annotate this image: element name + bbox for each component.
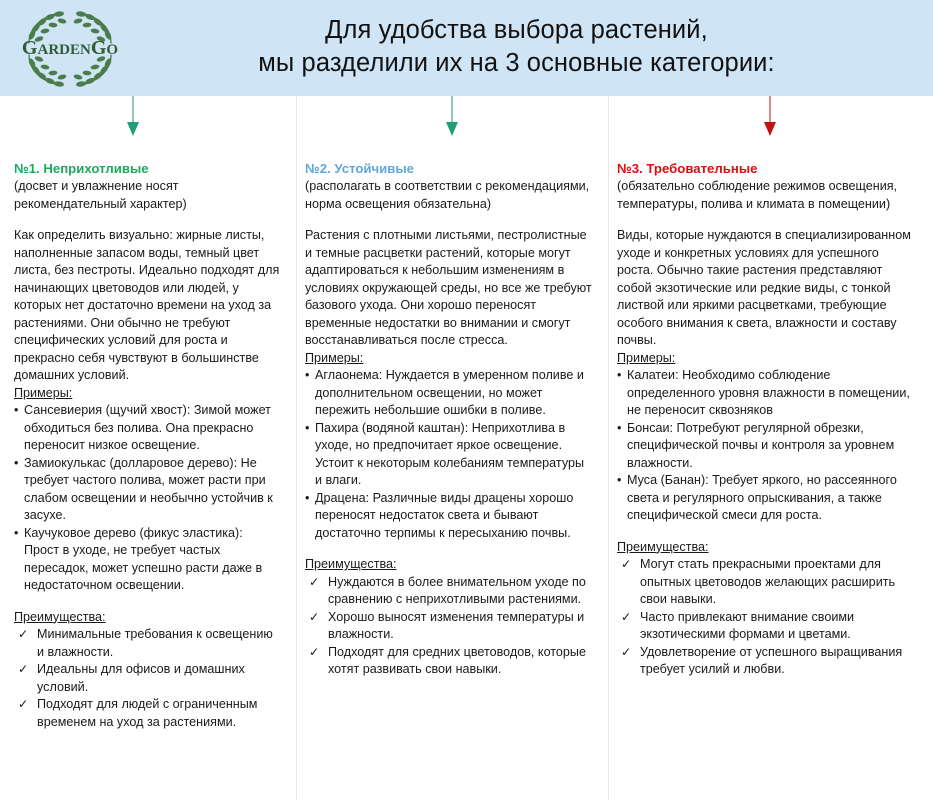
arrow-down-icon-3	[761, 96, 779, 138]
page-title: Для удобства выбора растений, мы раздели…	[140, 14, 933, 82]
arrow-down-icon-2	[443, 96, 461, 138]
advantages-list-2: Нуждаются в более внимательном уходе по …	[305, 574, 592, 679]
laurel-wreath-icon: GARDENGO	[5, 5, 135, 91]
list-item: Драцена: Различные виды драцены хорошо п…	[305, 490, 592, 543]
header-band: GARDENGO Для удобства выбора растений, м…	[0, 0, 933, 96]
category-title-3: №3. Требовательные	[617, 160, 917, 177]
list-item: Бонсаи: Потребуют регулярной обрезки, сп…	[617, 420, 917, 473]
category-title-2: №2. Устойчивые	[305, 160, 592, 177]
category-columns: №1. Неприхотливые (досвет и увлажнение н…	[0, 160, 933, 731]
advantages-label-2: Преимущества:	[305, 556, 592, 574]
list-item: Часто привлекают внимание своими экзотич…	[617, 609, 917, 644]
advantages-list-3: Могут стать прекрасными проектами для оп…	[617, 556, 917, 679]
list-item: Удовлетворение от успешного выращивания …	[617, 644, 917, 679]
brand-name: GARDENGO	[22, 37, 118, 59]
category-body-3: Виды, которые нуждаются в специализирова…	[617, 227, 917, 350]
advantages-label-1: Преимущества:	[14, 609, 280, 627]
category-subtitle-3: (обязательно соблюдение режимов освещени…	[617, 178, 917, 213]
category-column-resilient: №2. Устойчивые (располагать в соответств…	[296, 160, 608, 731]
infographic-page: GARDENGO Для удобства выбора растений, м…	[0, 0, 933, 800]
category-subtitle-1: (досвет и увлажнение носят рекомендатель…	[14, 178, 280, 213]
advantages-list-1: Минимальные требования к освещению и вла…	[14, 626, 280, 731]
arrow-down-icon-1	[124, 96, 142, 138]
category-subtitle-2: (располагать в соответствии с рекомендац…	[305, 178, 592, 213]
list-item: Каучуковое дерево (фикус эластика): Прос…	[14, 525, 280, 595]
brand-logo: GARDENGO	[0, 0, 140, 96]
examples-label-1: Примеры:	[14, 385, 280, 403]
list-item: Минимальные требования к освещению и вла…	[14, 626, 280, 661]
list-item: Нуждаются в более внимательном уходе по …	[305, 574, 592, 609]
list-item: Подходят для средних цветоводов, которые…	[305, 644, 592, 679]
list-item: Замиокулькас (долларовое дерево): Не тре…	[14, 455, 280, 525]
category-column-undemanding: №1. Неприхотливые (досвет и увлажнение н…	[0, 160, 296, 731]
examples-list-3: Калатеи: Необходимо соблюдение определен…	[617, 367, 917, 525]
category-title-1: №1. Неприхотливые	[14, 160, 280, 177]
category-column-demanding: №3. Требовательные (обязательно соблюден…	[608, 160, 933, 731]
category-body-1: Как определить визуально: жирные листы, …	[14, 227, 280, 385]
examples-label-2: Примеры:	[305, 350, 592, 368]
advantages-label-3: Преимущества:	[617, 539, 917, 557]
page-title-line-1: Для удобства выбора растений,	[325, 16, 708, 44]
list-item: Пахира (водяной каштан): Неприхотлива в …	[305, 420, 592, 490]
examples-label-3: Примеры:	[617, 350, 917, 368]
examples-list-2: Аглаонема: Нуждается в умеренном поливе …	[305, 367, 592, 542]
page-title-line-2: мы разделили их на 3 основные категории:	[140, 47, 893, 80]
list-item: Сансевиерия (щучий хвост): Зимой может о…	[14, 402, 280, 455]
list-item: Аглаонема: Нуждается в умеренном поливе …	[305, 367, 592, 420]
list-item: Могут стать прекрасными проектами для оп…	[617, 556, 917, 609]
list-item: Идеальны для офисов и домашних условий.	[14, 661, 280, 696]
list-item: Хорошо выносят изменения температуры и в…	[305, 609, 592, 644]
list-item: Муса (Банан): Требует яркого, но рассеян…	[617, 472, 917, 525]
list-item: Подходят для людей с ограниченным времен…	[14, 696, 280, 731]
category-body-2: Растения с плотными листьями, пестролист…	[305, 227, 592, 350]
examples-list-1: Сансевиерия (щучий хвост): Зимой может о…	[14, 402, 280, 595]
list-item: Калатеи: Необходимо соблюдение определен…	[617, 367, 917, 420]
